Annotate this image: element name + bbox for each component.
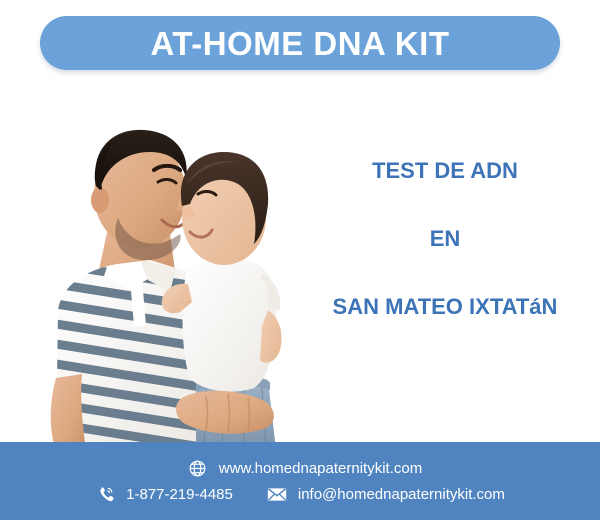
father-and-child-illustration [0, 78, 320, 450]
poster: AT-HOME DNA KIT [0, 0, 600, 520]
hero-photo [0, 78, 320, 450]
globe-icon [188, 458, 208, 478]
phone-contact[interactable]: 1-877-219-4485 [95, 484, 233, 504]
headline-line-1: TEST DE ADN [295, 160, 595, 182]
phone-icon [95, 484, 115, 504]
phone-label: 1-877-219-4485 [126, 487, 233, 502]
footer-row-phone-email: 1-877-219-4485 info@homednapaternitykit.… [95, 484, 505, 504]
website-contact[interactable]: www.homednapaternitykit.com [188, 458, 422, 478]
footer-row-website: www.homednapaternitykit.com [178, 458, 422, 478]
page-title: AT-HOME DNA KIT [151, 27, 450, 60]
email-label: info@homednapaternitykit.com [298, 487, 505, 502]
header-banner: AT-HOME DNA KIT [40, 16, 560, 70]
email-contact[interactable]: info@homednapaternitykit.com [267, 484, 505, 504]
footer-contact-bar: www.homednapaternitykit.com 1-877-219-44… [0, 442, 600, 520]
envelope-icon [267, 484, 287, 504]
headline-line-2: EN [295, 228, 595, 250]
headline-block: TEST DE ADN EN SAN MATEO IXTATáN [295, 160, 595, 318]
headline-line-3: SAN MATEO IXTATáN [295, 296, 595, 318]
website-label: www.homednapaternitykit.com [219, 461, 422, 476]
